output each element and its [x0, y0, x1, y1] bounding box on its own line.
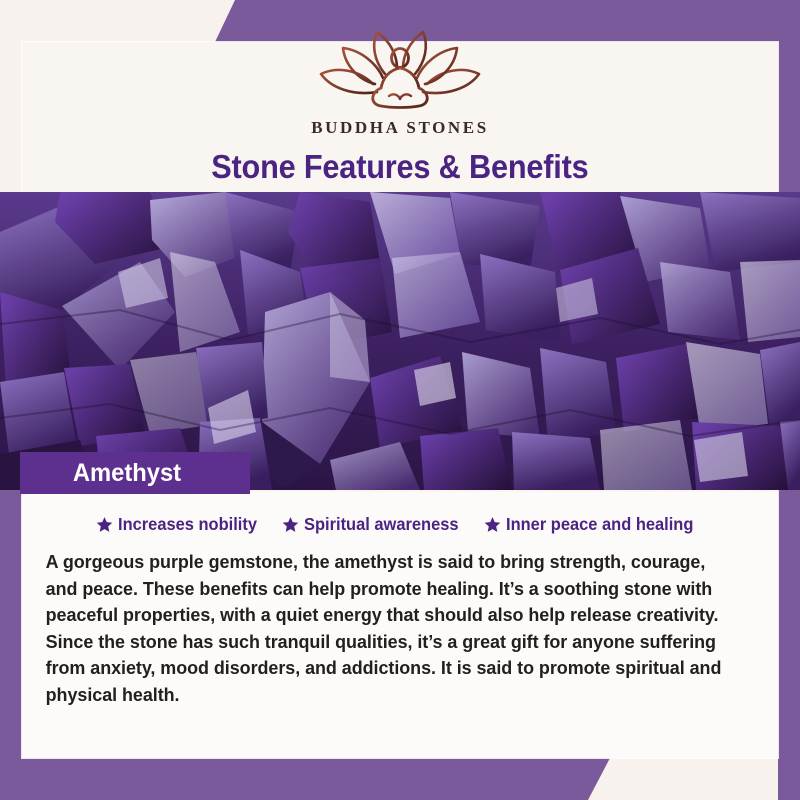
feature-label: Inner peace and healing	[506, 514, 693, 535]
star-icon	[96, 516, 113, 533]
feature-item: Inner peace and healing	[484, 514, 705, 535]
hero-image	[0, 192, 800, 490]
star-icon	[484, 516, 501, 533]
lotus-meditation-icon	[315, 26, 485, 112]
brand-name: BUDDHA STONES	[311, 118, 489, 138]
stone-name: Amethyst	[73, 459, 181, 488]
frame-band-left	[0, 490, 22, 800]
stone-name-banner: Amethyst	[20, 452, 250, 494]
feature-label: Increases nobility	[118, 514, 257, 535]
page-title: Stone Features & Benefits	[211, 148, 588, 186]
feature-item: Spiritual awareness	[282, 514, 468, 535]
feature-list: Increases nobility Spiritual awareness I…	[36, 514, 766, 535]
content-panel: Increases nobility Spiritual awareness I…	[22, 492, 778, 758]
feature-item: Increases nobility	[96, 514, 266, 535]
stone-description: A gorgeous purple gemstone, the amethyst…	[36, 549, 740, 708]
frame-band-bottom	[0, 758, 610, 800]
star-icon	[282, 516, 299, 533]
page-title-band: Stone Features & Benefits	[150, 142, 650, 192]
poster-root: BUDDHA STONES Stone Features & Benefits	[0, 0, 800, 800]
feature-label: Spiritual awareness	[304, 514, 459, 535]
